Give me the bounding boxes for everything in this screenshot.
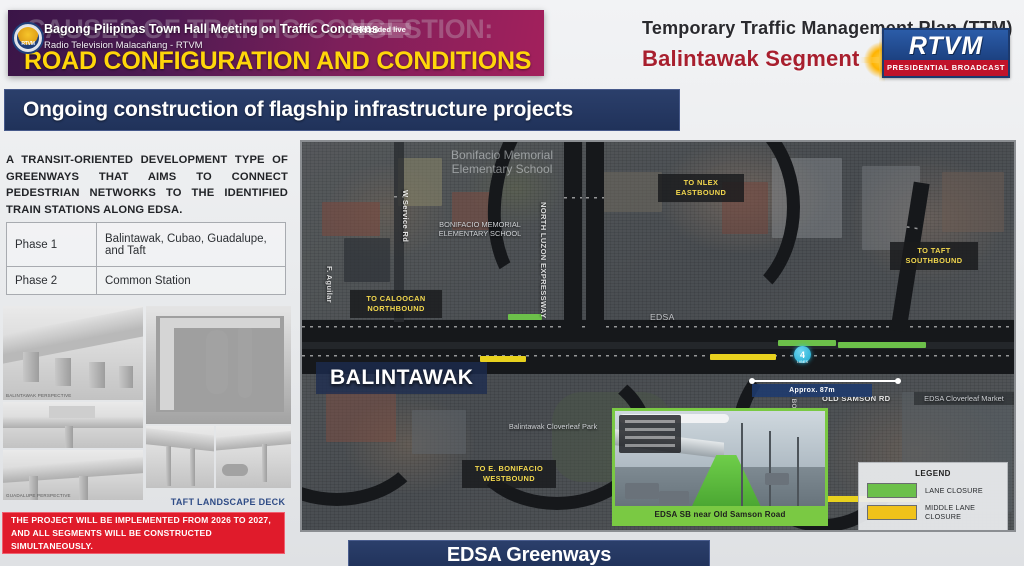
slide-title-highlight: ROAD CONFIGURATION AND CONDITIONS [24,47,531,76]
legend-swatch-yellow [867,505,917,520]
closure-green-2 [778,340,836,346]
greenways-description: A transit-oriented development type of g… [6,152,288,218]
header-line-2: Balintawak Segment [642,46,860,72]
lane-count-sub: LANES [797,360,808,364]
broadcast-lower-third: CAUSES OF TRAFFIC CONGESTION: ROAD CONFI… [8,10,544,76]
legend-item-middle-lane-closure: MIDDLE LANE CLOSURE [867,503,999,521]
render-micro-caption: BALINTAWAK PERSPECTIVE [6,393,72,398]
render-micro-caption: GUADALUPE PERSPECTIVE [6,493,71,498]
road-label-nlex: NORTH LUZON EXPRESSWAY [538,202,548,318]
map-legend: LEGEND LANE CLOSURE MIDDLE LANE CLOSURE [858,462,1008,532]
direction-label-nlex: TO NLEX EASTBOUND [658,174,744,202]
legend-label-middle-lane-closure: MIDDLE LANE CLOSURE [925,503,999,521]
rtvm-logo-text: RTVM [884,30,1008,62]
broadcast-program-title: Bagong Pilipinas Town Hall Meeting on Tr… [44,22,379,36]
lane-count-badge[interactable]: 4 LANES [794,346,811,363]
legend-title: LEGEND [867,469,999,478]
legend-swatch-green [867,483,917,498]
broadcast-station-name: Radio Television Malacañang - RTVM [44,40,203,51]
direction-label-e-bonifacio: TO E. BONIFACIO WESTBOUND [462,460,556,488]
inset-overlay-panel [619,415,681,453]
phase-2-label: Phase 2 [7,267,97,295]
render-image-underdeck-2 [216,426,291,488]
legend-item-lane-closure: LANE CLOSURE [867,483,999,498]
recorded-live-badge: Recorded live [351,23,411,35]
rtvm-seal-text: RTVM [21,40,34,49]
closure-yellow-2 [710,354,776,360]
render-image-landscape-deck-aerial [146,306,291,424]
footer-banner-text: EDSA Greenways [447,544,611,566]
render-image-underdeck-1 [146,426,214,488]
footer-banner: EDSA Greenways [348,540,710,566]
implementation-note-text: The project will be implemented from 202… [3,514,284,553]
inset-caption: EDSA SB near Old Samson Road [615,506,825,523]
place-label-bonifacio-school: BONIFACIO MEMORIAL ELEMENTARY SCHOOL [420,220,540,238]
rtvm-seal-icon: RTVM [12,22,44,54]
ghost-place-label: Bonifacio MemorialElementary School [412,148,592,176]
rtvm-presidential-broadcast-logo: RTVM PRESIDENTIAL BROADCAST [882,28,1010,78]
render-image-footbridge-front [3,402,143,448]
place-label-cloverleaf-park: Balintawak Cloverleaf Park [498,422,608,431]
map-area-tag: BALINTAWAK [316,362,487,394]
road-label-f-aguilar: F. Aguilar [324,266,334,303]
phase-1-label: Phase 1 [7,223,97,267]
slide-header: Temporary Traffic Management Plan (TTM) … [600,6,1024,84]
closure-green-3 [838,342,926,348]
measure-line [752,380,898,382]
render-gallery: BALINTAWAK PERSPECTIVE GUADALUPE PERSPEC… [3,306,291,500]
phase-2-stations: Common Station [97,267,286,295]
render-caption: TAFT LANDSCAPE DECK [165,497,291,507]
render-image-walkway-columns: BALINTAWAK PERSPECTIVE [3,306,143,400]
closure-green-1 [508,314,542,320]
phase-table: Phase 1 Balintawak, Cubao, Guadalupe, an… [6,222,286,295]
legend-label-lane-closure: LANE CLOSURE [925,486,983,495]
rtvm-logo-subtext: PRESIDENTIAL BROADCAST [884,60,1008,76]
render-image-footbridge-side: GUADALUPE PERSPECTIVE [3,450,143,500]
street-view-inset[interactable]: EDSA SB near Old Samson Road [612,408,828,526]
road-label-edsa: EDSA [650,312,675,322]
road-edsa-north [302,320,1016,342]
table-row: Phase 2 Common Station [7,267,286,295]
place-label-cloverleaf-market: EDSA Cloverleaf Market [914,392,1014,405]
measurement-label: Approx. 87m [752,384,872,397]
screenshot-root: Temporary Traffic Management Plan (TTM) … [0,0,1024,566]
section-banner-text: Ongoing construction of flagship infrast… [5,98,573,122]
traffic-plan-map[interactable]: Bonifacio MemorialElementary School BONI… [300,140,1016,532]
direction-label-caloocan: TO CALOOCAN NORTHBOUND [350,290,442,318]
direction-label-taft: TO TAFT SOUTHBOUND [890,242,978,270]
road-label-w-service-rd: W Service Rd [400,190,410,242]
lane-count-value: 4 [800,350,805,360]
implementation-note-banner: The project will be implemented from 202… [2,512,285,554]
phase-1-stations: Balintawak, Cubao, Guadalupe, and Taft [97,223,286,267]
table-row: Phase 1 Balintawak, Cubao, Guadalupe, an… [7,223,286,267]
section-banner: Ongoing construction of flagship infrast… [4,89,680,131]
